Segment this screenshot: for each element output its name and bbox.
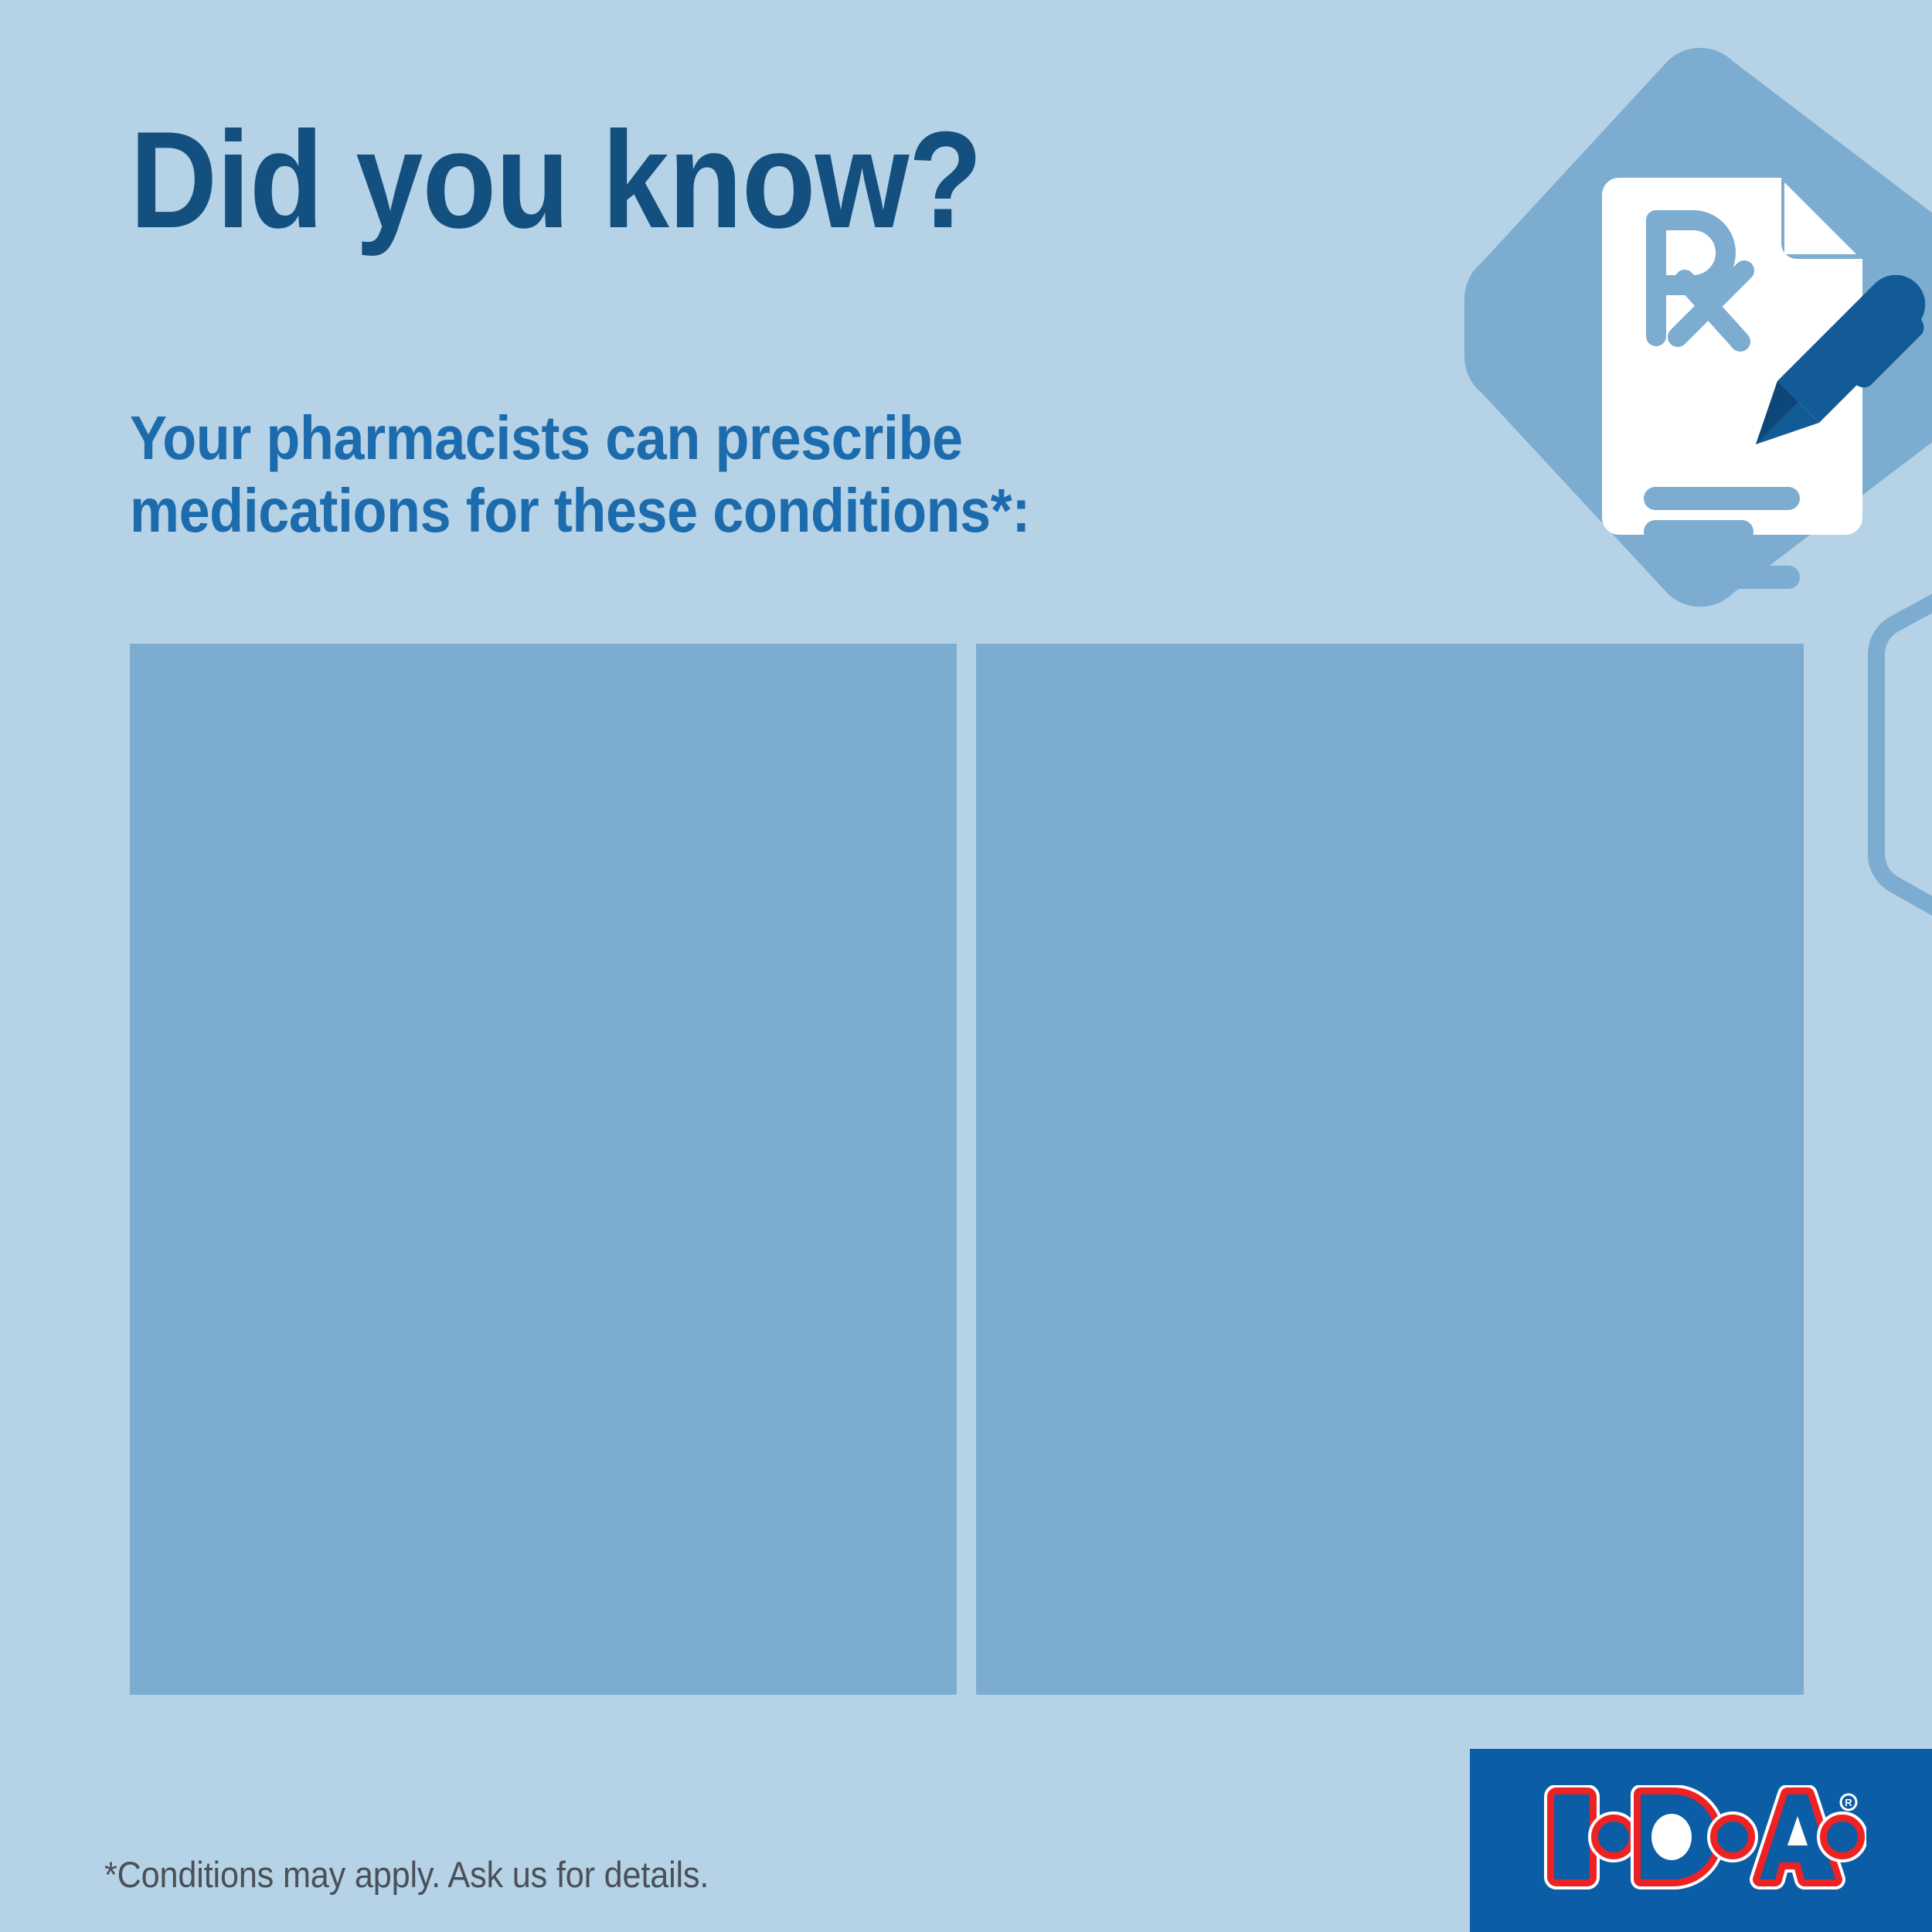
ida-dot-1 — [1598, 1821, 1629, 1852]
ida-logo: R — [1542, 1785, 1866, 1901]
svg-text:R: R — [1845, 1797, 1852, 1808]
page-subtitle: Your pharmacists can prescribe medicatio… — [130, 402, 1312, 546]
ida-letter-d — [1641, 1794, 1716, 1879]
poster-canvas: Did you know? Your pharmacists can presc… — [0, 0, 1932, 1932]
ida-dot-2 — [1717, 1821, 1748, 1852]
page-subtitle-line-1: Your pharmacists can prescribe — [130, 402, 1312, 474]
conditions-panel-left — [130, 644, 957, 1695]
prescription-rx-icon — [1453, 31, 1932, 626]
conditions-panel-right — [976, 644, 1804, 1695]
page-title: Did you know? — [130, 108, 1286, 253]
ida-dot-3 — [1827, 1821, 1858, 1852]
registered-trademark-icon: R — [1841, 1794, 1856, 1810]
page-subtitle-line-2: medications for these conditions*: — [130, 474, 1312, 547]
disclaimer-text: *Conditions may apply. Ask us for detail… — [104, 1853, 709, 1896]
ida-letter-i — [1554, 1794, 1590, 1879]
